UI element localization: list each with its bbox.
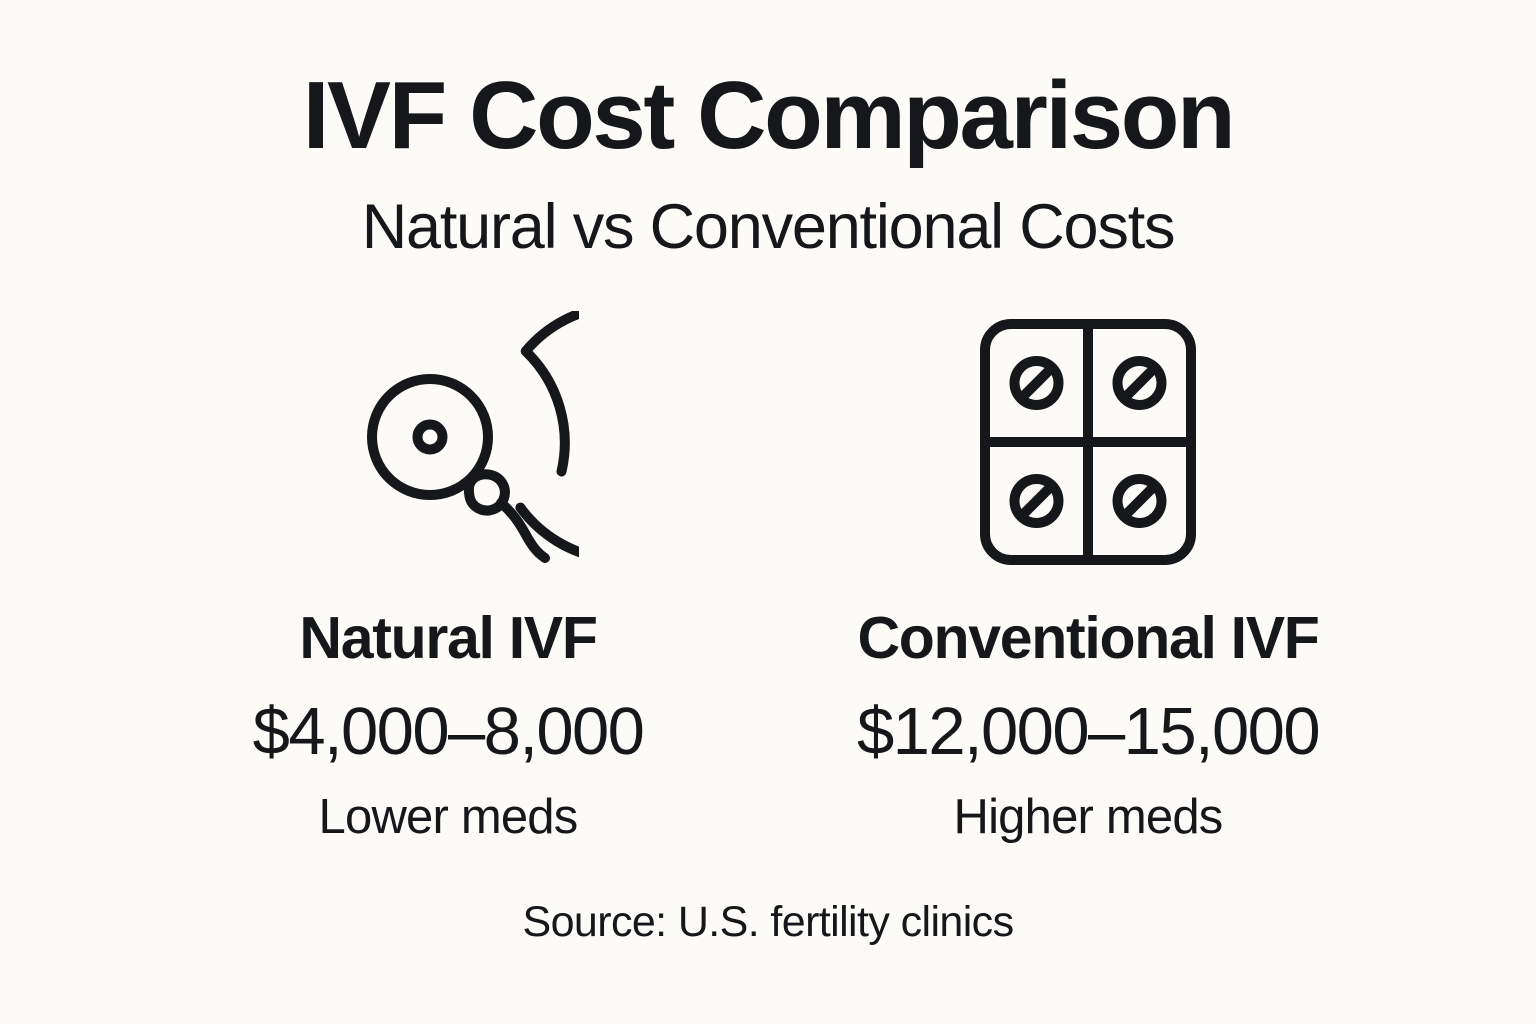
page-title: IVF Cost Comparison	[0, 68, 1536, 164]
column-name: Conventional IVF	[857, 609, 1318, 668]
egg-and-sperm-icon	[317, 311, 579, 573]
pill-blister-pack-icon	[957, 311, 1219, 573]
column-note: Lower meds	[319, 793, 578, 842]
page-subtitle: Natural vs Conventional Costs	[0, 196, 1536, 259]
comparison-columns: Natural IVF $4,000–8,000 Lower meds	[0, 311, 1536, 842]
column-note: Higher meds	[954, 793, 1223, 842]
column-price: $4,000–8,000	[253, 698, 644, 765]
infographic-canvas: IVF Cost Comparison Natural vs Conventio…	[0, 0, 1536, 1024]
comparison-column-conventional-ivf: Conventional IVF $12,000–15,000 Higher m…	[868, 311, 1308, 842]
source-caption: Source: U.S. fertility clinics	[0, 898, 1536, 947]
column-name: Natural IVF	[299, 609, 596, 668]
comparison-column-natural-ivf: Natural IVF $4,000–8,000 Lower meds	[228, 311, 668, 842]
column-price: $12,000–15,000	[857, 698, 1319, 765]
header: IVF Cost Comparison Natural vs Conventio…	[0, 0, 1536, 259]
